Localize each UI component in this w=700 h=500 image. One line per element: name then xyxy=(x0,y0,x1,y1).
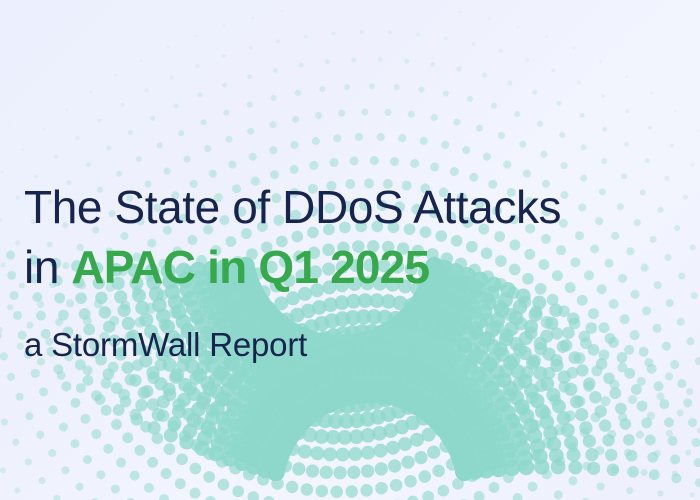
headline-line-1: The State of DDoS Attacks xyxy=(24,178,684,236)
title-block: The State of DDoS Attacks in APAC in Q1 … xyxy=(24,178,684,366)
report-subtitle: a StormWall Report xyxy=(24,324,684,366)
headline-accent-apac-q1-2025: APAC in Q1 2025 xyxy=(71,241,429,293)
headline-line-2-prefix: in xyxy=(24,241,71,293)
report-cover: The State of DDoS Attacks in APAC in Q1 … xyxy=(0,0,700,500)
headline-line-2: in APAC in Q1 2025 xyxy=(24,238,684,296)
